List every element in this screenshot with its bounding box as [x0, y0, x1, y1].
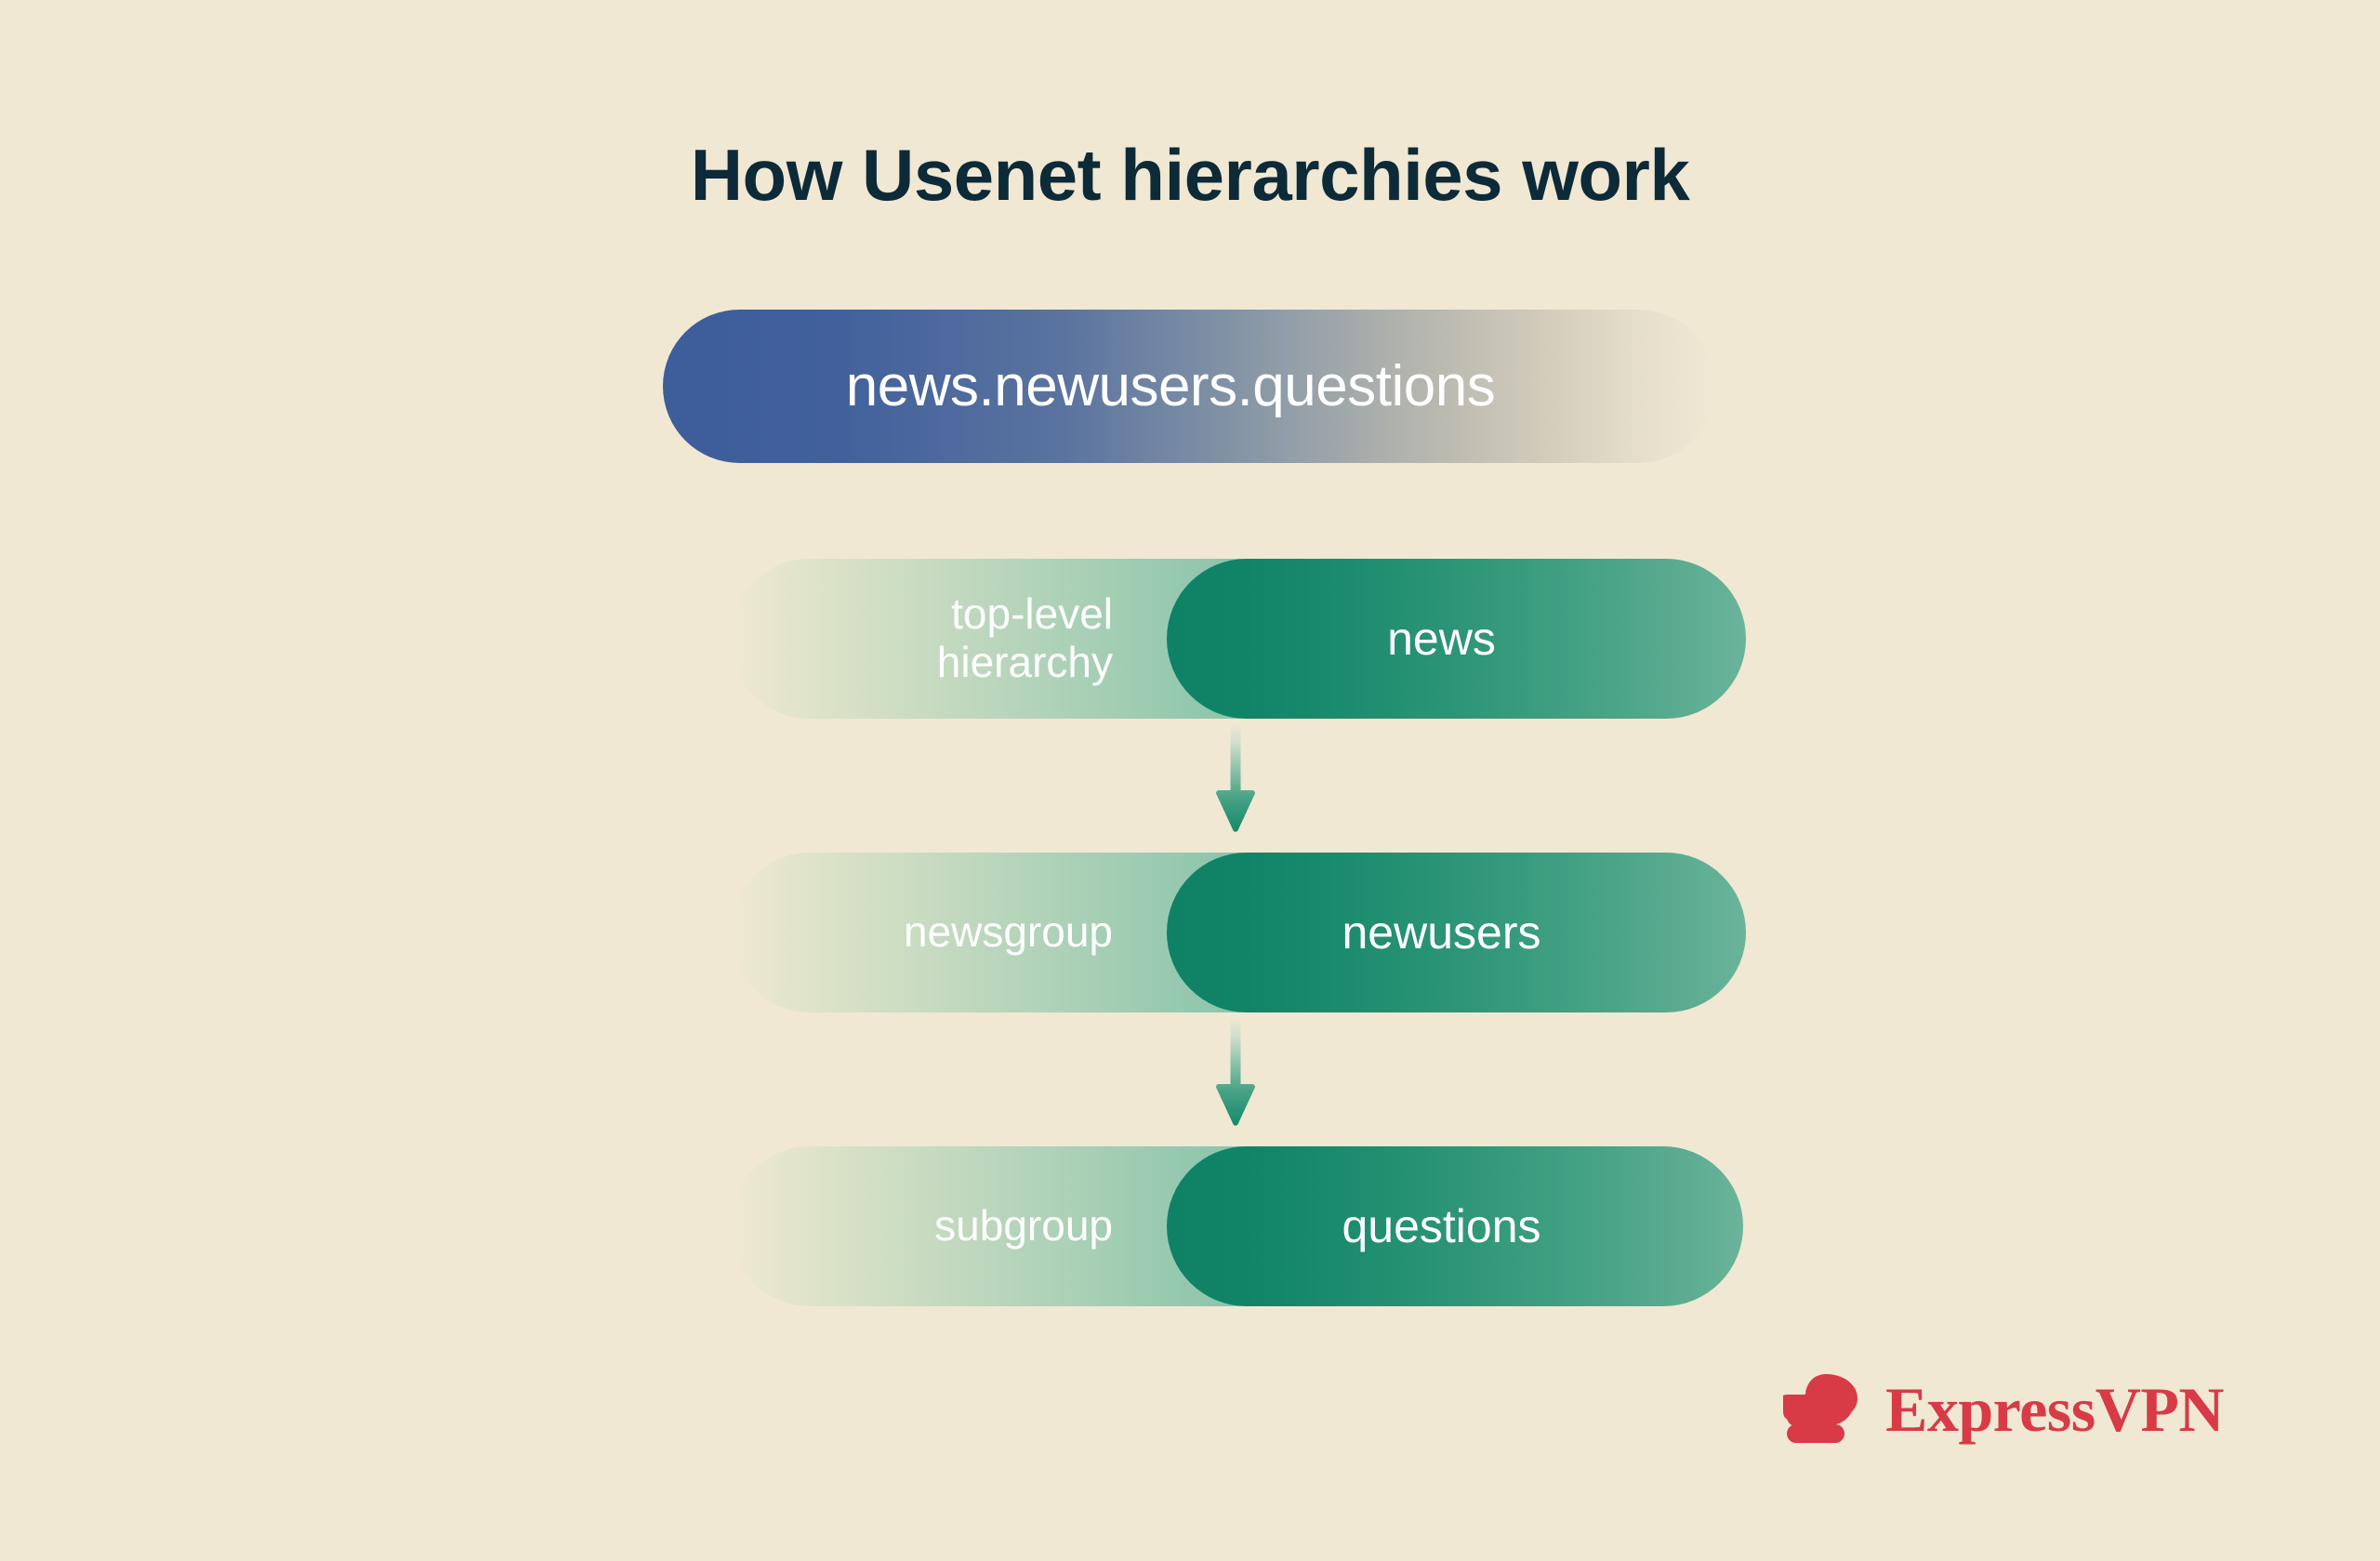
- expressvpn-e-mark-svg: [1783, 1367, 1869, 1452]
- expressvpn-e-mark-icon: [1783, 1367, 1869, 1452]
- hierarchy-token-value: newusers: [1152, 853, 1731, 1012]
- full-path-label: news.newusers.questions: [846, 353, 1495, 419]
- expressvpn-logo: ExpressVPN: [1783, 1358, 2201, 1461]
- hierarchy-level-label: subgroup: [730, 1146, 1130, 1306]
- hierarchy-row-newsgroup: newsgroup newusers: [0, 853, 2380, 1012]
- arrow-down-svg: [1209, 723, 1263, 833]
- hierarchy-level-label: newsgroup: [730, 853, 1130, 1012]
- flow-arrow-down-icon: [1209, 1017, 1263, 1127]
- hierarchy-row-top-level: top-level hierarchy news: [0, 559, 2380, 719]
- full-path-pill: news.newusers.questions: [663, 310, 1715, 463]
- arrow-down-svg: [1209, 1017, 1263, 1127]
- expressvpn-wordmark: ExpressVPN: [1885, 1378, 2224, 1441]
- hierarchy-level-label: top-level hierarchy: [730, 559, 1130, 719]
- hierarchy-token-value: news: [1152, 559, 1731, 719]
- page-title: How Usenet hierarchies work: [0, 138, 2380, 214]
- hierarchy-token-value: questions: [1152, 1146, 1731, 1306]
- infographic-canvas: How Usenet hierarchies work news.newuser…: [0, 0, 2380, 1561]
- flow-arrow-down-icon: [1209, 723, 1263, 833]
- hierarchy-row-subgroup: subgroup questions: [0, 1146, 2380, 1306]
